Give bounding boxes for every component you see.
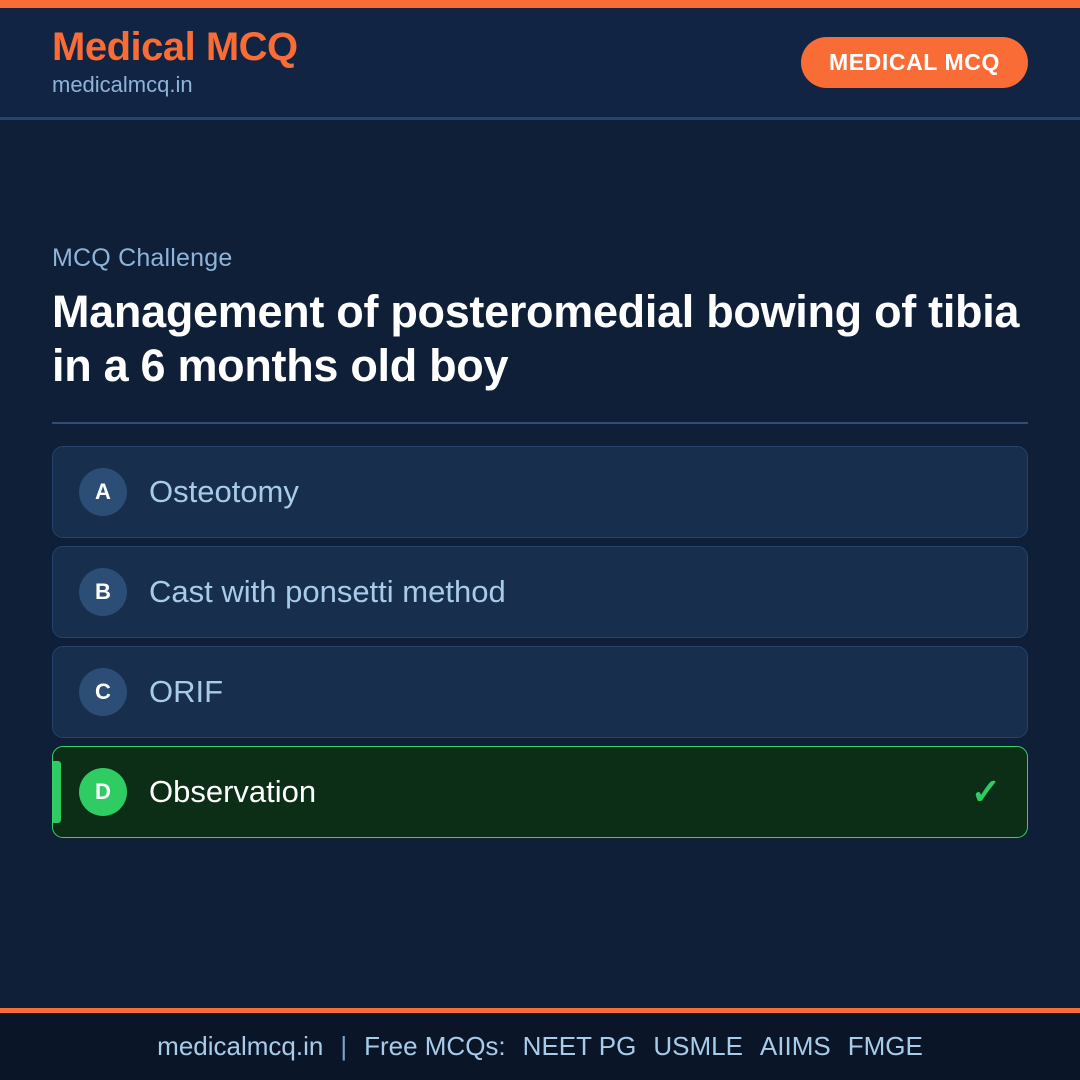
brand-subtitle: medicalmcq.in — [52, 71, 298, 100]
option-letter-badge: B — [79, 568, 127, 616]
options-list: AOsteotomyBCast with ponsetti methodCORI… — [52, 446, 1028, 838]
option-label: ORIF — [149, 673, 1001, 710]
question-text: Management of posteromedial bowing of ti… — [52, 285, 1028, 391]
option-row-correct[interactable]: DObservation✓ — [52, 746, 1028, 838]
footer-exams-label: Free MCQs: — [364, 1031, 506, 1062]
header-badge: MEDICAL MCQ — [801, 37, 1028, 88]
brand-title: Medical MCQ — [52, 26, 298, 68]
correct-accent-bar — [53, 761, 61, 823]
check-icon: ✓ — [971, 774, 1001, 810]
main-content: MCQ Challenge Management of posteromedia… — [0, 120, 1080, 1008]
option-letter-badge: D — [79, 768, 127, 816]
footer-exam-item: USMLE — [653, 1031, 743, 1062]
header: Medical MCQ medicalmcq.in MEDICAL MCQ — [0, 8, 1080, 120]
brand-block: Medical MCQ medicalmcq.in — [52, 26, 298, 100]
option-row[interactable]: BCast with ponsetti method — [52, 546, 1028, 638]
eyebrow-label: MCQ Challenge — [52, 244, 1028, 273]
option-row[interactable]: AOsteotomy — [52, 446, 1028, 538]
option-label: Osteotomy — [149, 473, 1001, 510]
option-row[interactable]: CORIF — [52, 646, 1028, 738]
option-label: Observation — [149, 773, 957, 810]
footer-content: medicalmcq.in | Free MCQs: NEET PGUSMLEA… — [157, 1031, 923, 1062]
footer-exams: NEET PGUSMLEAIIMSFMGE — [523, 1031, 923, 1062]
top-accent-bar — [0, 0, 1080, 8]
option-letter-badge: A — [79, 468, 127, 516]
footer-exam-item: NEET PG — [523, 1031, 637, 1062]
footer: medicalmcq.in | Free MCQs: NEET PGUSMLEA… — [0, 1008, 1080, 1080]
footer-separator: | — [340, 1031, 347, 1062]
question-divider — [52, 422, 1028, 424]
option-label: Cast with ponsetti method — [149, 573, 1001, 610]
option-letter-badge: C — [79, 668, 127, 716]
mcq-card: Medical MCQ medicalmcq.in MEDICAL MCQ MC… — [0, 0, 1080, 1080]
footer-exam-item: FMGE — [848, 1031, 923, 1062]
footer-site[interactable]: medicalmcq.in — [157, 1031, 323, 1062]
footer-exam-item: AIIMS — [760, 1031, 831, 1062]
